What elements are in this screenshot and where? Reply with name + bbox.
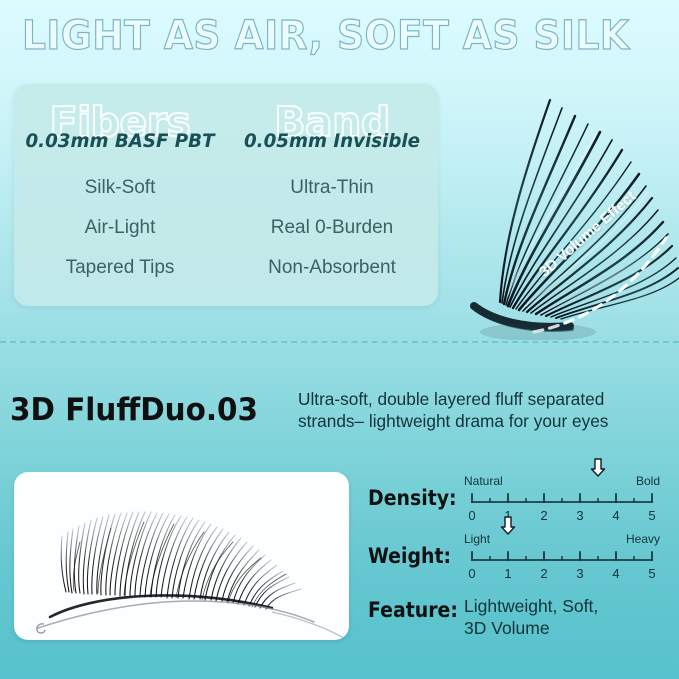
feature-value: Lightweight, Soft, 3D Volume bbox=[464, 596, 664, 640]
density-tick-labels: 0 1 2 3 4 5 bbox=[464, 508, 660, 524]
tick-label: 0 bbox=[468, 508, 475, 523]
list-item: Air-Light bbox=[14, 218, 226, 237]
infographic-page: LIGHT AS AIR, SOFT AS SILK Fibers 0.03mm… bbox=[0, 0, 679, 679]
lash-fan-icon bbox=[430, 70, 679, 340]
list-item: Non-Absorbent bbox=[226, 258, 438, 277]
product-description: Ultra-soft, double layered fluff separat… bbox=[298, 388, 667, 433]
weight-high-label: Heavy bbox=[626, 532, 660, 546]
feature-label: Feature: bbox=[368, 598, 458, 622]
tick-label: 3 bbox=[576, 566, 583, 581]
tick-label: 1 bbox=[504, 566, 511, 581]
weight-value-arrow bbox=[500, 516, 516, 535]
density-high-label: Bold bbox=[636, 474, 660, 488]
band-bullet-list: Ultra-Thin Real 0-Burden Non-Absorbent bbox=[226, 178, 438, 298]
list-item: Real 0-Burden bbox=[226, 218, 438, 237]
density-value-arrow bbox=[590, 458, 606, 477]
feature-column-band: Band 0.05mm Invisible Ultra-Thin Real 0-… bbox=[226, 84, 438, 306]
product-photo bbox=[14, 472, 349, 640]
list-item: Silk-Soft bbox=[14, 178, 226, 197]
product-name: 3D FluffDuo.03 bbox=[10, 392, 258, 428]
fibers-bullet-list: Silk-Soft Air-Light Tapered Tips bbox=[14, 178, 226, 298]
tick-label: 5 bbox=[648, 566, 655, 581]
list-item: Ultra-Thin bbox=[226, 178, 438, 197]
weight-low-label: Light bbox=[464, 532, 490, 546]
section-divider bbox=[0, 341, 679, 343]
tick-label: 2 bbox=[540, 508, 547, 523]
weight-label: Weight: bbox=[368, 544, 451, 568]
feature-card: Fibers 0.03mm BASF PBT Silk-Soft Air-Lig… bbox=[14, 84, 438, 306]
tick-label: 0 bbox=[468, 566, 475, 581]
tick-label: 3 bbox=[576, 508, 583, 523]
tick-label: 2 bbox=[540, 566, 547, 581]
density-label: Density: bbox=[368, 486, 457, 510]
feature-column-fibers: Fibers 0.03mm BASF PBT Silk-Soft Air-Lig… bbox=[14, 84, 226, 306]
fibers-subtitle: 0.03mm BASF PBT bbox=[18, 130, 222, 152]
page-title: LIGHT AS AIR, SOFT AS SILK bbox=[22, 13, 630, 59]
band-subtitle: 0.05mm Invisible bbox=[230, 130, 434, 152]
list-item: Tapered Tips bbox=[14, 258, 226, 277]
weight-tick-labels: 0 1 2 3 4 5 bbox=[464, 566, 660, 582]
tick-label: 4 bbox=[612, 566, 619, 581]
tick-label: 4 bbox=[612, 508, 619, 523]
density-low-label: Natural bbox=[464, 474, 503, 488]
spec-block: Density: Natural Bold bbox=[368, 466, 668, 646]
tick-label: 5 bbox=[648, 508, 655, 523]
